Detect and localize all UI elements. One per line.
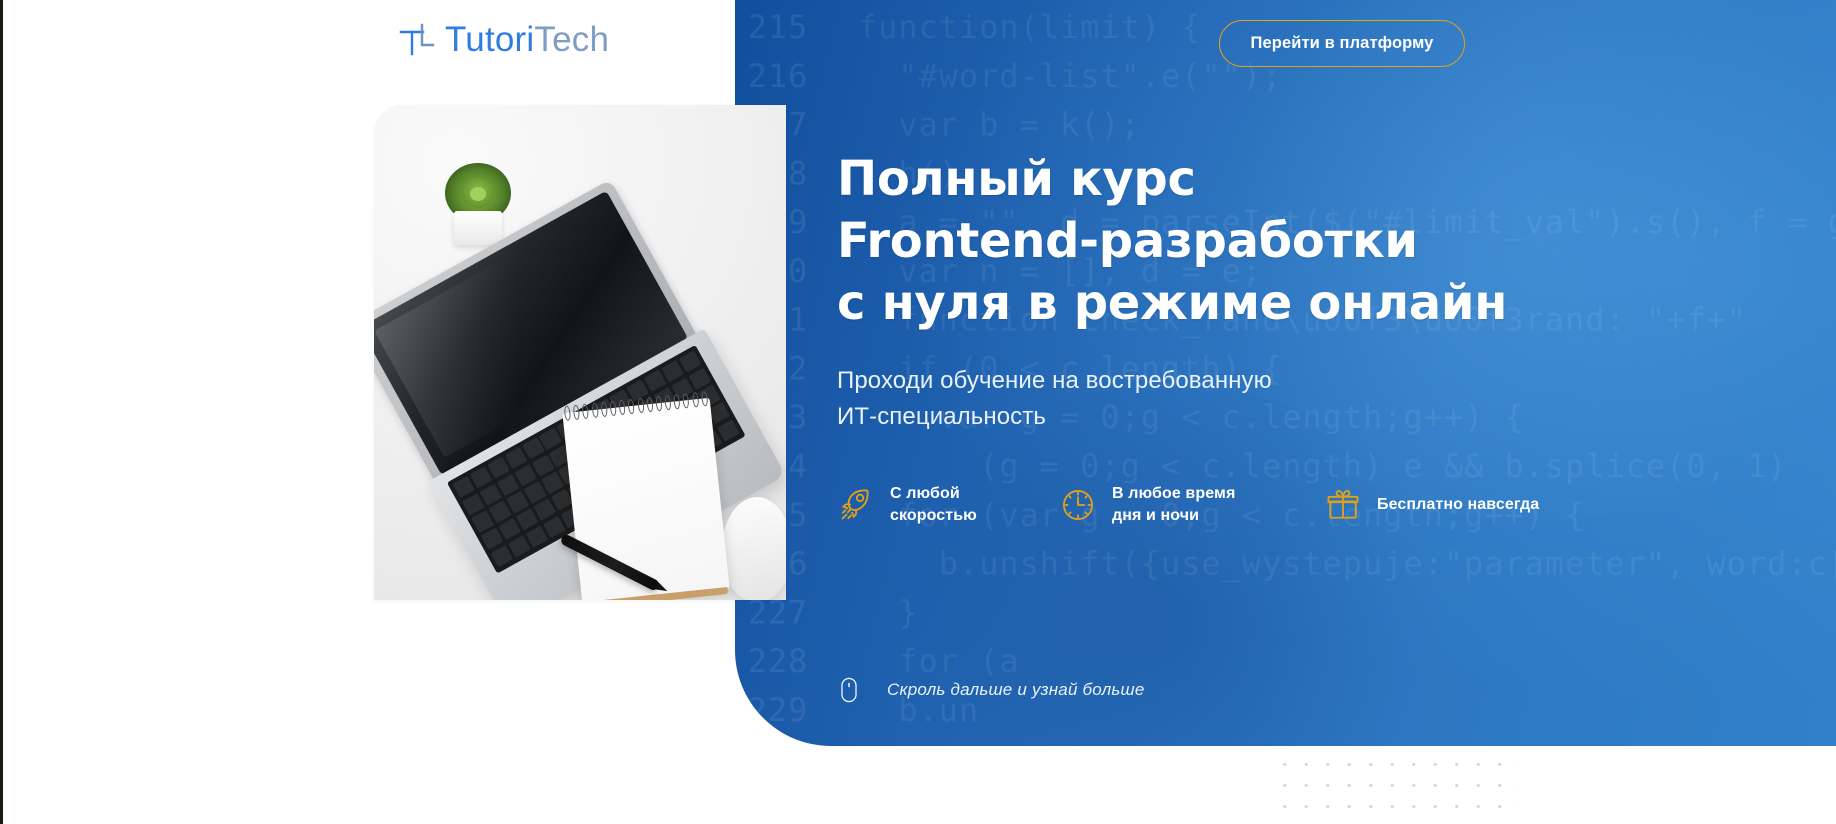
subheadline: Проходи обучение на востребованную ИТ-сп…	[837, 363, 1597, 435]
subheadline-line-2: ИТ-специальность	[837, 399, 1597, 435]
logo-wordmark: TutoriTech	[445, 20, 609, 60]
gift-icon	[1323, 485, 1363, 525]
window-left-edge	[0, 0, 3, 824]
clock-icon	[1058, 485, 1098, 525]
logo-text-secondary: Tech	[534, 20, 609, 59]
headline-line-3: с нуля в режиме онлайн	[837, 272, 1597, 334]
headline-line-2: Frontend-разработки	[837, 210, 1597, 272]
subheadline-line-1: Проходи обучение на востребованную	[837, 363, 1597, 399]
feature-item-anytime: В любое время дня и ночи	[1058, 483, 1323, 527]
mouse-icon	[840, 676, 858, 704]
feature-label-free: Бесплатно навсегда	[1377, 494, 1539, 516]
brand-logo[interactable]: TutoriTech	[398, 20, 609, 60]
notepad	[562, 398, 729, 600]
feature-label-anytime: В любое время дня и ночи	[1112, 483, 1235, 527]
scroll-hint[interactable]: Скроль дальше и узнай больше	[840, 676, 1144, 704]
plant-pot	[454, 211, 502, 245]
rocket-icon	[836, 485, 876, 525]
go-to-platform-button[interactable]: Перейти в платформу	[1219, 20, 1465, 67]
logo-text-primary: Tutori	[445, 20, 534, 59]
dot-grid-pattern	[1270, 750, 1520, 820]
computer-mouse	[722, 497, 786, 600]
hero-content: Полный курс Frontend-разработки с нуля в…	[837, 148, 1597, 435]
photo-inner	[374, 105, 786, 600]
scroll-hint-text: Скроль дальше и узнай больше	[887, 680, 1144, 700]
feature-item-speed: С любой скоростью	[836, 483, 1058, 527]
tutoritech-t-mark-icon	[398, 21, 436, 59]
succulent-plant	[440, 163, 516, 245]
hero-page: 215function(limit) { 216 "#word-list".e(…	[0, 0, 1836, 824]
headline-line-1: Полный курс	[837, 148, 1597, 210]
laptop-desk-photo	[374, 105, 786, 600]
feature-item-free: Бесплатно навсегда	[1323, 485, 1539, 525]
feature-list: С любой скоростью В любое время дня и но…	[836, 483, 1539, 527]
feature-label-speed: С любой скоростью	[890, 483, 977, 527]
notepad-page	[562, 398, 729, 600]
